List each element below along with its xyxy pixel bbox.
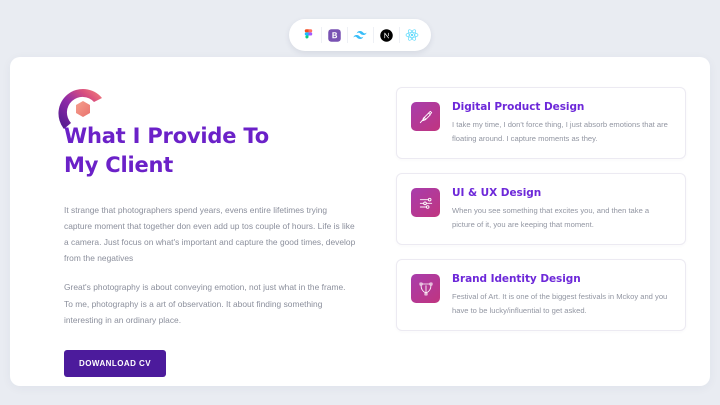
bootstrap-icon[interactable]: [321, 22, 347, 48]
service-card-body: Brand Identity Design Festival of Art. I…: [452, 272, 671, 318]
service-title: Brand Identity Design: [452, 273, 671, 285]
services-list: Digital Product Design I take my time, I…: [374, 85, 686, 362]
service-card-body: UI & UX Design When you see something th…: [452, 186, 671, 232]
download-cv-button[interactable]: DOWANLOAD CV: [64, 350, 166, 377]
tech-stack-bar: [289, 19, 431, 51]
service-card[interactable]: Digital Product Design I take my time, I…: [396, 87, 686, 159]
figma-icon[interactable]: [295, 22, 321, 48]
service-card[interactable]: UI & UX Design When you see something th…: [396, 173, 686, 245]
tailwind-icon[interactable]: [347, 22, 373, 48]
service-description: I take my time, I don't force thing, I j…: [452, 118, 671, 146]
intro-paragraph-1: It strange that photographers spend year…: [64, 202, 356, 267]
service-description: When you see something that excites you,…: [452, 204, 671, 232]
intro-column: What I Provide To My Client It strange t…: [34, 85, 374, 362]
content-panel: What I Provide To My Client It strange t…: [10, 57, 710, 386]
page-title-line-1: What I Provide To: [64, 124, 269, 148]
page-title: What I Provide To My Client: [64, 122, 374, 180]
service-card-body: Digital Product Design I take my time, I…: [452, 100, 671, 146]
react-icon[interactable]: [399, 22, 425, 48]
pen-tool-icon: [411, 102, 440, 131]
nextjs-icon[interactable]: [373, 22, 399, 48]
sliders-icon: [411, 188, 440, 217]
intro-paragraph-2: Great's photography is about conveying e…: [64, 279, 356, 327]
service-description: Festival of Art. It is one of the bigges…: [452, 290, 671, 318]
service-card[interactable]: Brand Identity Design Festival of Art. I…: [396, 259, 686, 331]
page-title-line-2: My Client: [64, 153, 173, 177]
transform-anchors-icon: [411, 274, 440, 303]
service-title: Digital Product Design: [452, 101, 671, 113]
service-title: UI & UX Design: [452, 187, 671, 199]
